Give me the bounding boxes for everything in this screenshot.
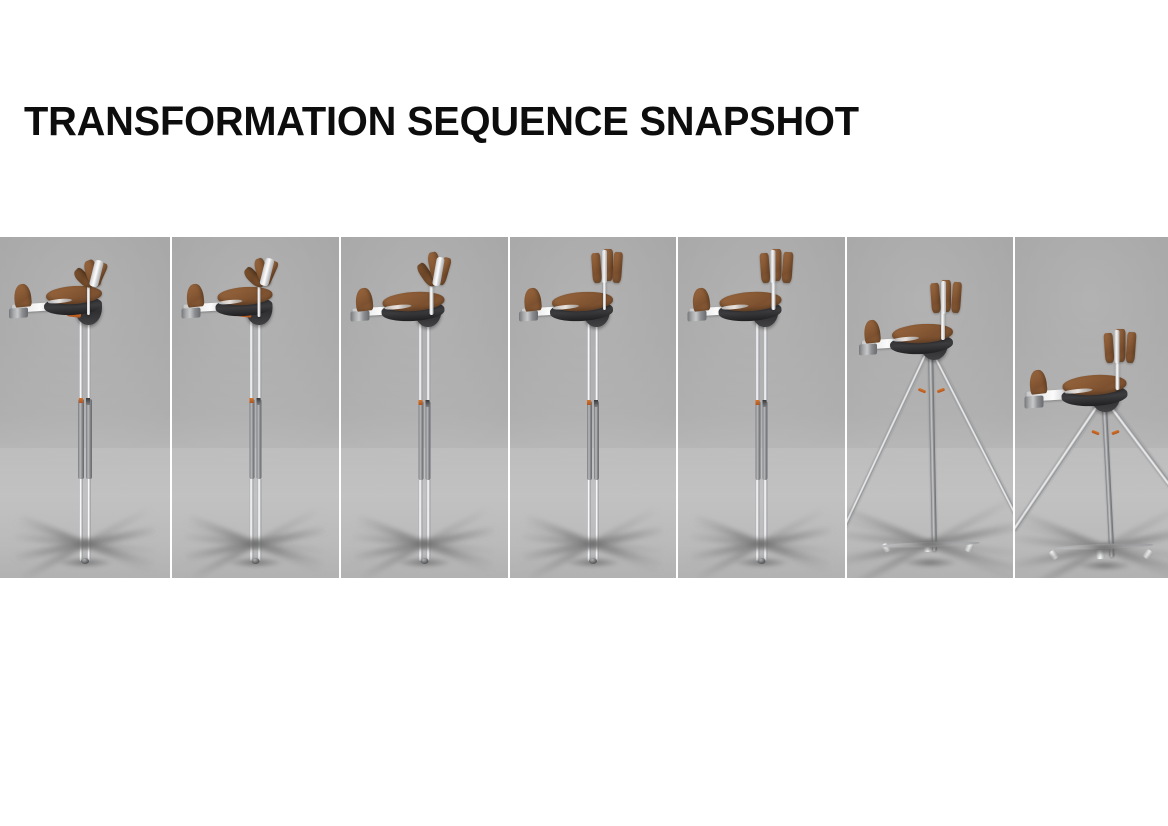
- leg-upper-tube: [87, 319, 91, 399]
- armrest-end-cap: [181, 307, 200, 318]
- leg-contact-shadow: [1076, 560, 1132, 571]
- tripod-release-strut: [917, 388, 925, 394]
- leg-lower-tube: [587, 480, 591, 561]
- leg-lower-tube: [764, 480, 768, 561]
- transformation-sequence-strip: [0, 237, 1168, 578]
- sequence-panel-6: [847, 237, 1013, 578]
- leg-upper-tube: [756, 322, 760, 401]
- chair-render-stage-6: [847, 237, 1013, 578]
- page-title: TRANSFORMATION SEQUENCE SNAPSHOT: [24, 98, 859, 144]
- leg-mid-sleeve: [587, 401, 592, 480]
- chair-render-stage-3: [341, 237, 508, 578]
- armrest-end-cap: [9, 307, 28, 318]
- backrest-pad: [760, 252, 771, 283]
- leg-contact-shadow: [397, 557, 453, 568]
- sequence-panel-4: [510, 237, 676, 578]
- leg-mid-sleeve: [257, 399, 262, 479]
- tripod-release-strut: [1111, 430, 1119, 436]
- chair-render-stage-1: [0, 237, 170, 578]
- backrest-spine: [941, 281, 946, 314]
- armrest-end-cap: [1024, 395, 1043, 408]
- leg-joint-collar: [426, 400, 430, 407]
- backrest-pad: [1104, 333, 1115, 364]
- tripod-release-strut: [1091, 430, 1099, 436]
- backrest-spine: [771, 250, 776, 283]
- leg-lower-tube: [419, 480, 423, 561]
- leg-upper-tube: [426, 322, 430, 401]
- leg-lower-tube: [250, 479, 254, 561]
- leg-lower-tube: [79, 479, 83, 561]
- chair-render-stage-4: [510, 237, 676, 578]
- leg-lower-tube: [258, 479, 262, 561]
- tripod-foot: [1096, 550, 1105, 559]
- tripod-foot: [1143, 549, 1154, 560]
- leg-lower-tube: [756, 480, 760, 561]
- tripod-brace-ring: [1055, 542, 1154, 551]
- leg-lower-tube: [595, 480, 599, 561]
- armrest-end-cap: [859, 344, 877, 356]
- leg-mid-sleeve: [594, 401, 599, 480]
- leg-mid-sleeve: [426, 401, 431, 480]
- leg-contact-shadow: [734, 557, 790, 568]
- leg-lower-tube: [427, 480, 431, 561]
- tripod-leg: [847, 345, 932, 532]
- sequence-panel-7: [1015, 237, 1168, 578]
- shadow-streak: [10, 533, 160, 556]
- backrest-spine: [602, 250, 607, 283]
- leg-contact-shadow: [228, 557, 284, 568]
- backrest-pad: [951, 282, 963, 313]
- leg-lower-tube: [87, 479, 91, 561]
- armrest-cork-grip: [691, 287, 710, 311]
- tripod-leg: [928, 345, 1013, 529]
- leg-joint-collar: [86, 398, 90, 405]
- armrest-end-cap: [687, 311, 706, 322]
- chair-render-stage-2: [172, 237, 339, 578]
- tripod-foot: [1049, 549, 1060, 561]
- leg-upper-tube: [250, 319, 254, 399]
- armrest-cork-grip: [863, 319, 881, 343]
- leg-mid-sleeve: [78, 399, 83, 479]
- shadow-streak: [350, 533, 500, 556]
- tripod-leg: [1015, 396, 1106, 531]
- tripod-leg: [928, 346, 937, 551]
- armrest-cork-grip: [185, 284, 204, 308]
- leg-joint-collar: [594, 400, 598, 407]
- chair-render-stage-5: [678, 237, 845, 578]
- sequence-panel-5: [678, 237, 845, 578]
- leg-joint-collar: [763, 400, 767, 407]
- leg-upper-tube: [419, 322, 423, 401]
- shadow-streak: [181, 533, 331, 556]
- leg-mid-sleeve: [418, 401, 423, 480]
- leg-copper-band: [587, 400, 591, 405]
- backrest-pad: [930, 283, 941, 314]
- leg-mid-sleeve: [86, 399, 91, 479]
- leg-contact-shadow: [57, 557, 113, 568]
- leg-contact-shadow: [565, 557, 621, 568]
- armrest-end-cap: [519, 311, 538, 322]
- backrest-spine: [1115, 330, 1120, 363]
- leg-copper-band: [250, 398, 254, 403]
- leg-joint-collar: [257, 398, 261, 405]
- shadow-streak: [518, 533, 668, 556]
- tripod-leg: [1101, 397, 1114, 557]
- sequence-panel-1: [0, 237, 170, 578]
- backrest-pad: [1125, 332, 1137, 363]
- sequence-panel-3: [341, 237, 508, 578]
- leg-mid-sleeve: [763, 401, 768, 480]
- leg-mid-sleeve: [249, 399, 254, 479]
- armrest-cork-grip: [1028, 370, 1047, 395]
- armrest-cork-grip: [13, 284, 33, 308]
- tripod-release-strut: [937, 388, 945, 394]
- backrest-pad: [612, 251, 624, 282]
- leg-copper-band: [79, 398, 83, 403]
- leg-mid-sleeve: [755, 401, 760, 480]
- leg-upper-tube: [79, 319, 83, 399]
- backrest-pad: [781, 251, 793, 282]
- leg-upper-tube: [587, 322, 591, 401]
- chair-render-stage-7: [1015, 237, 1168, 578]
- armrest-cork-grip: [523, 287, 542, 311]
- leg-copper-band: [419, 400, 423, 405]
- leg-upper-tube: [595, 322, 599, 401]
- armrest-cork-grip: [354, 287, 373, 311]
- leg-upper-tube: [763, 322, 767, 401]
- sequence-panel-2: [172, 237, 339, 578]
- backrest-pad: [591, 252, 602, 283]
- tripod-leg: [1102, 396, 1168, 527]
- shadow-streak: [687, 533, 837, 556]
- leg-contact-shadow: [902, 557, 958, 568]
- leg-upper-tube: [257, 319, 261, 399]
- leg-copper-band: [756, 400, 760, 405]
- armrest-end-cap: [350, 311, 369, 322]
